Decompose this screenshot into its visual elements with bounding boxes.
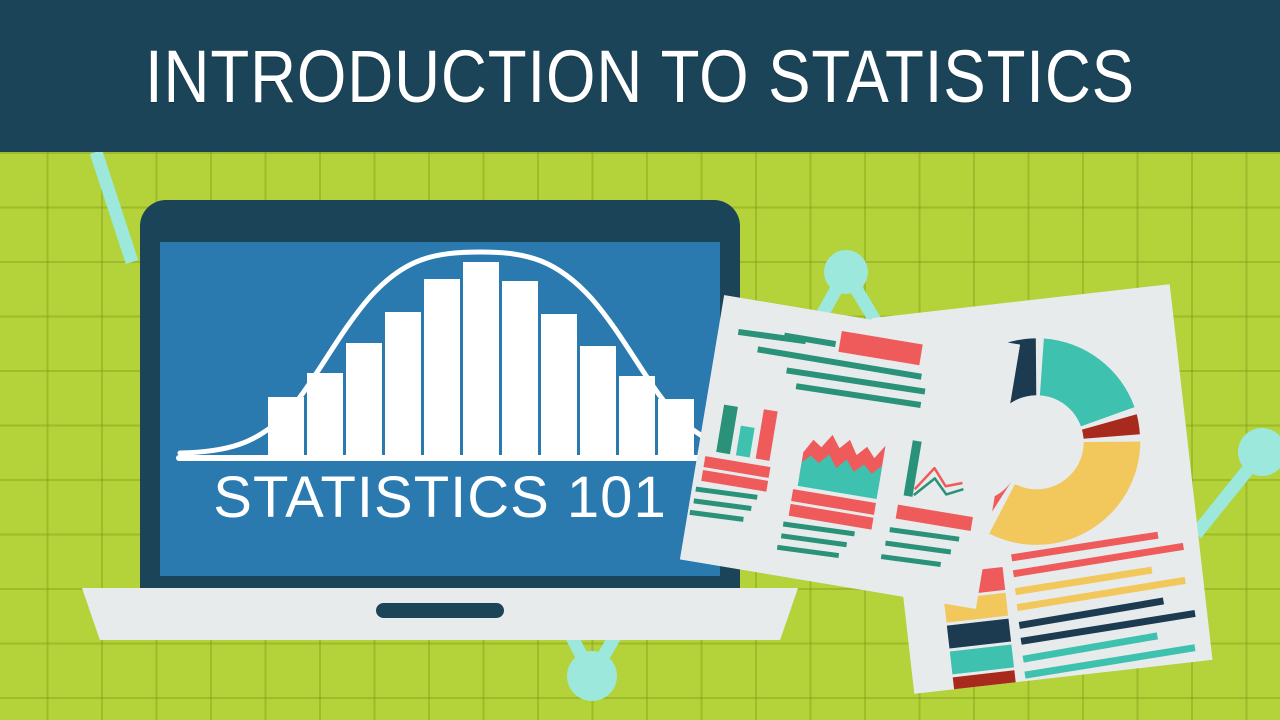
laptop-trackpad <box>376 603 504 618</box>
page-title: INTRODUCTION TO STATISTICS <box>90 0 1191 152</box>
laptop-screen: STATISTICS 101 <box>160 242 720 576</box>
bar <box>580 346 616 455</box>
title-bar: INTRODUCTION TO STATISTICS <box>0 0 1280 152</box>
bar <box>463 262 499 455</box>
bar <box>385 312 421 455</box>
slide-canvas: STATISTICS 101 <box>0 0 1280 720</box>
normal-distribution-chart <box>160 242 720 472</box>
bar <box>307 373 343 455</box>
bar <box>619 376 655 455</box>
bar <box>541 314 577 455</box>
screen-caption-text: STATISTICS 101 <box>160 464 720 531</box>
report-page-charts <box>680 295 1020 609</box>
bar <box>346 343 382 455</box>
charts-report-content <box>680 295 1020 609</box>
bar <box>424 279 460 455</box>
chart-baseline <box>176 455 704 461</box>
histogram-bars <box>268 262 694 455</box>
bar <box>502 281 538 455</box>
